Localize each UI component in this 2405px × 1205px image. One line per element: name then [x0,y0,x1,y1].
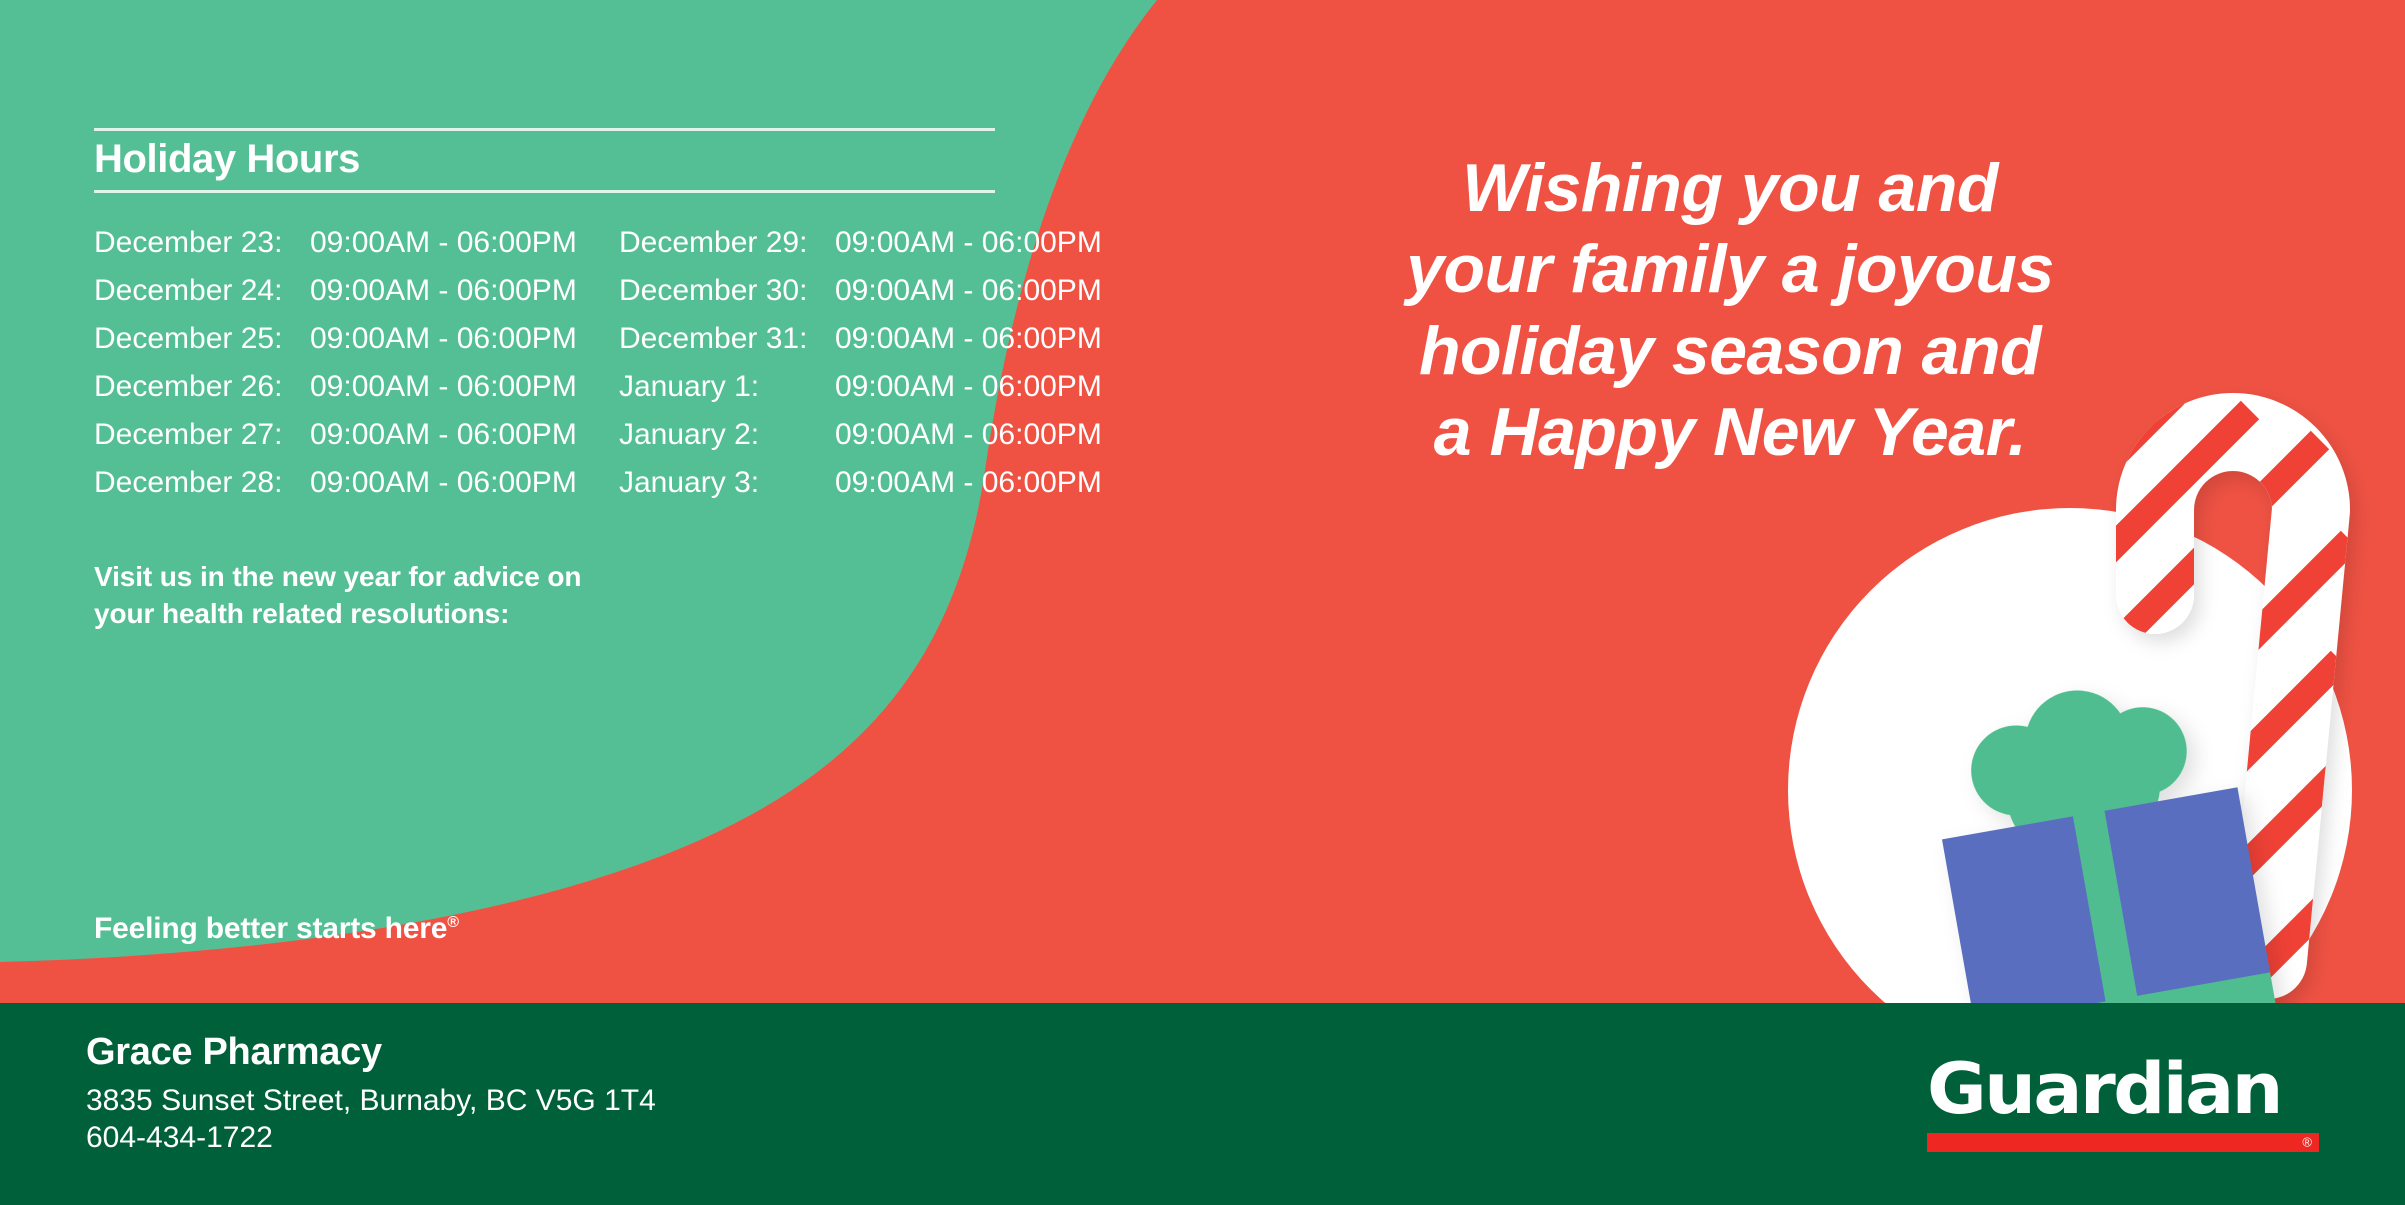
greeting-line-1: Wishing you and [1260,148,2200,229]
registered-mark-icon: ® [447,914,459,931]
hours-day: January 3: [619,459,835,507]
hours-row: December 31: 09:00AM - 06:00PM [619,315,1144,363]
holiday-hours-title: Holiday Hours [94,131,1094,190]
hours-time: 09:00AM - 06:00PM [835,363,1102,411]
hours-row: December 29: 09:00AM - 06:00PM [619,219,1144,267]
hours-row: December 25: 09:00AM - 06:00PM [94,315,619,363]
hours-row: December 30: 09:00AM - 06:00PM [619,267,1144,315]
footer-bar: Grace Pharmacy 3835 Sunset Street, Burna… [0,1003,2405,1205]
store-info: Grace Pharmacy 3835 Sunset Street, Burna… [86,1030,656,1157]
hours-time: 09:00AM - 06:00PM [835,219,1102,267]
hours-day: December 24: [94,267,310,315]
hours-time: 09:00AM - 06:00PM [310,459,577,507]
hours-time: 09:00AM - 06:00PM [835,315,1102,363]
holiday-hours-panel: Holiday Hours December 23: 09:00AM - 06:… [94,128,1094,632]
greeting-line-2: your family a joyous [1260,229,2200,310]
rule-bottom [94,190,995,193]
hours-day: December 31: [619,315,835,363]
hours-day: December 29: [619,219,835,267]
hours-day: December 30: [619,267,835,315]
greeting-line-4: a Happy New Year. [1260,392,2200,473]
hours-row: January 2: 09:00AM - 06:00PM [619,411,1144,459]
store-phone: 604-434-1722 [86,1119,656,1157]
hours-day: December 27: [94,411,310,459]
hours-column-left: December 23: 09:00AM - 06:00PM December … [94,219,619,507]
store-address: 3835 Sunset Street, Burnaby, BC V5G 1T4 [86,1082,656,1120]
hours-time: 09:00AM - 06:00PM [310,267,577,315]
hours-day: January 1: [619,363,835,411]
hours-row: December 24: 09:00AM - 06:00PM [94,267,619,315]
hours-grid: December 23: 09:00AM - 06:00PM December … [94,219,1094,507]
guardian-logo: Guardian ® [1927,1055,2319,1152]
guardian-logo-bar: ® [1927,1133,2319,1152]
hours-day: December 23: [94,219,310,267]
hours-row: December 28: 09:00AM - 06:00PM [94,459,619,507]
greeting-message: Wishing you and your family a joyous hol… [1260,148,2200,474]
hours-time: 09:00AM - 06:00PM [310,363,577,411]
store-name: Grace Pharmacy [86,1030,656,1082]
hours-time: 09:00AM - 06:00PM [835,267,1102,315]
hours-time: 09:00AM - 06:00PM [835,459,1102,507]
greeting-line-3: holiday season and [1260,311,2200,392]
guardian-wordmark: Guardian [1927,1055,2335,1124]
hours-day: January 2: [619,411,835,459]
hours-time: 09:00AM - 06:00PM [310,219,577,267]
visit-note-line-2: your health related resolutions: [94,596,1094,633]
hours-day: December 28: [94,459,310,507]
holiday-card: Holiday Hours December 23: 09:00AM - 06:… [0,0,2405,1205]
hours-time: 09:00AM - 06:00PM [835,411,1102,459]
hours-row: January 3: 09:00AM - 06:00PM [619,459,1144,507]
hours-day: December 25: [94,315,310,363]
hours-time: 09:00AM - 06:00PM [310,411,577,459]
hours-row: December 23: 09:00AM - 06:00PM [94,219,619,267]
visit-note-line-1: Visit us in the new year for advice on [94,559,1094,596]
visit-note: Visit us in the new year for advice on y… [94,559,1094,633]
logo-registered-mark-icon: ® [2302,1136,2312,1149]
brand-tagline: Feeling better starts here® [94,912,459,946]
hours-row: December 27: 09:00AM - 06:00PM [94,411,619,459]
hours-time: 09:00AM - 06:00PM [310,315,577,363]
hours-row: December 26: 09:00AM - 06:00PM [94,363,619,411]
brand-tagline-text: Feeling better starts here [94,912,447,945]
hours-row: January 1: 09:00AM - 06:00PM [619,363,1144,411]
hours-column-right: December 29: 09:00AM - 06:00PM December … [619,219,1144,507]
hours-day: December 26: [94,363,310,411]
